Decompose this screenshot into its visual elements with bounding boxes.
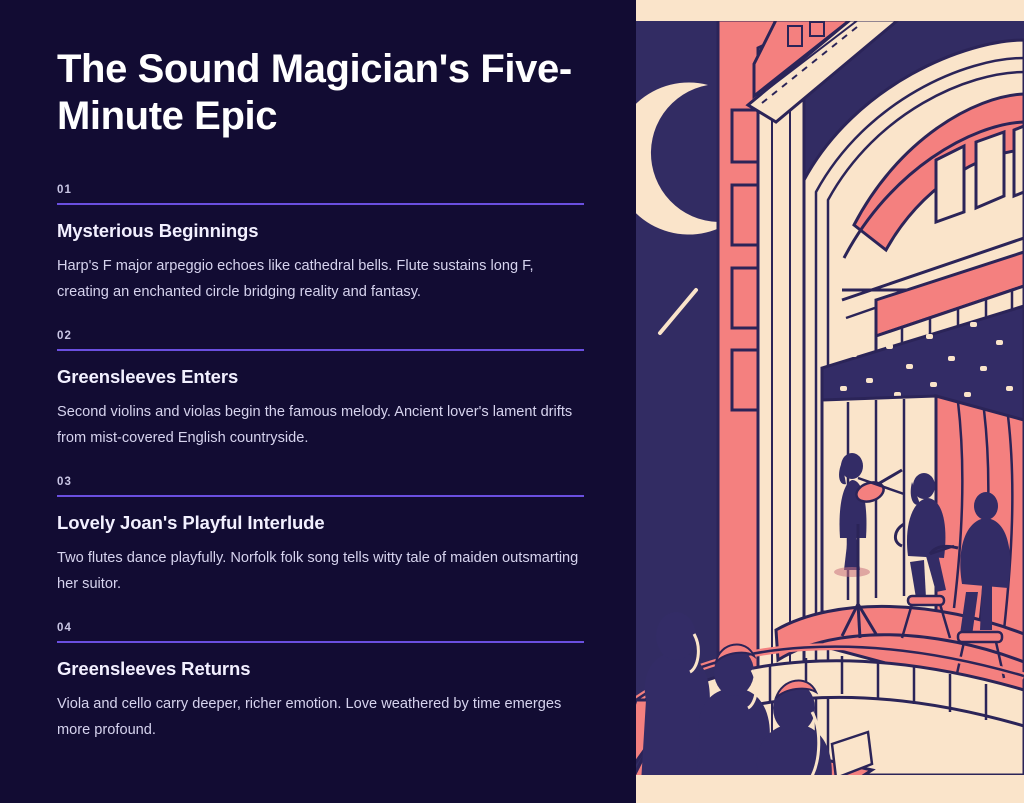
section-divider — [57, 641, 584, 643]
audience-head — [656, 612, 696, 660]
section-number: 03 — [57, 476, 584, 488]
section-body: Viola and cello carry deeper, richer emo… — [57, 692, 584, 744]
illustration-scene — [636, 20, 1024, 800]
section-title: Greensleeves Returns — [57, 658, 584, 680]
frame-bottom-edge — [636, 775, 1024, 803]
section-item: 04 Greensleeves Returns Viola and cello … — [57, 622, 584, 744]
poster-page: The Sound Magician's Five-Minute Epic 01… — [0, 0, 1024, 803]
section-number: 01 — [57, 184, 584, 196]
cellist-head — [974, 492, 998, 520]
cellist-leg — [980, 584, 992, 630]
balcony-panel — [936, 146, 964, 222]
stand-leg — [858, 604, 860, 638]
section-body: Second violins and violas begin the famo… — [57, 400, 584, 452]
page-title: The Sound Magician's Five-Minute Epic — [57, 46, 577, 140]
section-body: Two flutes dance playfully. Norfolk folk… — [57, 546, 584, 598]
section-divider — [57, 203, 584, 205]
section-list: 01 Mysterious Beginnings Harp's F major … — [57, 184, 584, 744]
section-number: 04 — [57, 622, 584, 634]
stool-seat — [958, 632, 1002, 642]
content-panel: The Sound Magician's Five-Minute Epic 01… — [0, 0, 636, 803]
section-body: Harp's F major arpeggio echoes like cath… — [57, 254, 584, 306]
section-item: 03 Lovely Joan's Playful Interlude Two f… — [57, 476, 584, 598]
section-title: Mysterious Beginnings — [57, 220, 584, 242]
section-item: 01 Mysterious Beginnings Harp's F major … — [57, 184, 584, 306]
stool-seat — [908, 596, 944, 605]
violinist-shadow — [834, 567, 870, 577]
balcony-panel — [1014, 126, 1024, 196]
concert-hall-illustration — [636, 0, 1024, 803]
concert-hall-svg — [636, 0, 1024, 803]
section-divider — [57, 349, 584, 351]
section-item: 02 Greensleeves Enters Second violins an… — [57, 330, 584, 452]
section-title: Greensleeves Enters — [57, 366, 584, 388]
section-number: 02 — [57, 330, 584, 342]
balcony-panel — [976, 132, 1004, 208]
section-divider — [57, 495, 584, 497]
section-title: Lovely Joan's Playful Interlude — [57, 512, 584, 534]
